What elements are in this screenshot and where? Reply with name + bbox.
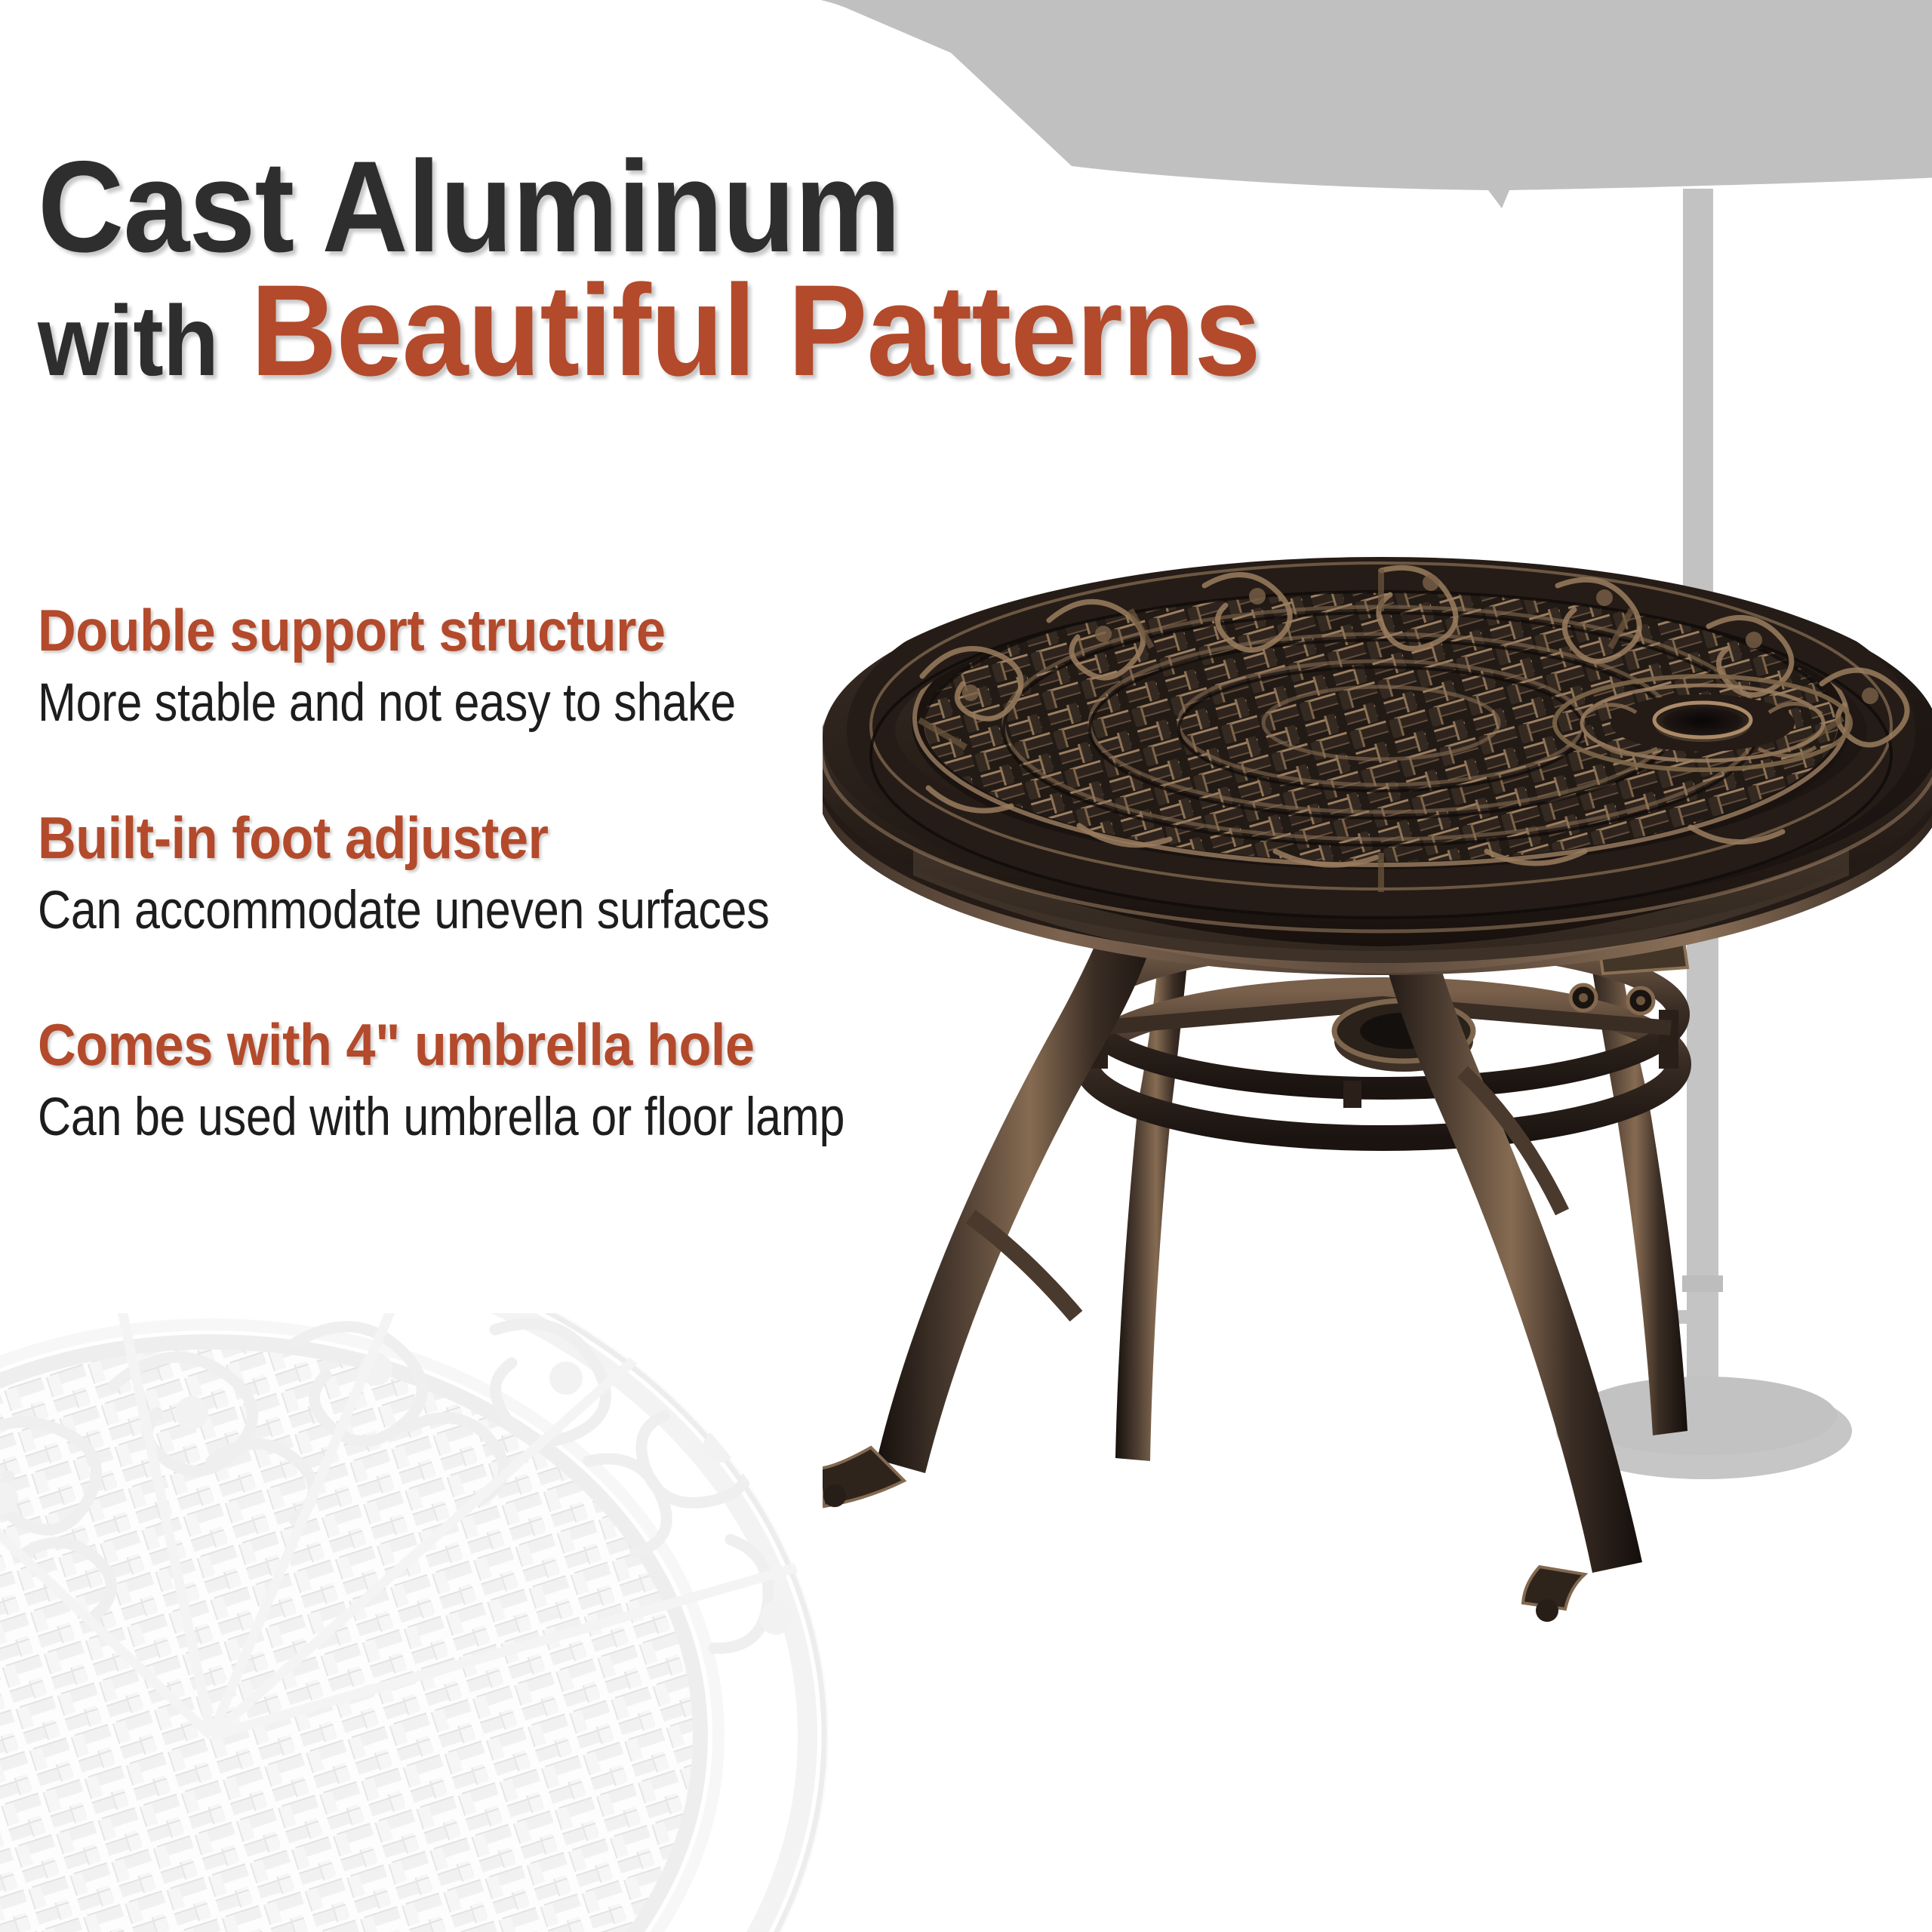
feature-title: Comes with 4" umbrella hole [38,1014,941,1075]
headline-line-2-emphasis: Beautiful Patterns [251,258,1260,403]
feature-item-umbrella-hole: Comes with 4" umbrella hole Can be used … [38,1014,1041,1150]
headline-line-1: Cast Aluminum [38,147,1392,268]
feature-subtitle: More stable and not easy to shake [38,671,901,735]
headline-block: Cast Aluminum with Beautiful Patterns [38,147,1509,392]
headline-line-2-prefix: with [38,285,218,396]
feature-subtitle: Can be used with umbrella or floor lamp [38,1085,901,1149]
product-feature-poster: Cast Aluminum with Beautiful Patterns Do… [0,0,1932,1932]
feature-list: Double support structure More stable and… [38,600,1041,1150]
feature-title: Built-in foot adjuster [38,808,941,868]
feature-item-double-support: Double support structure More stable and… [38,600,1041,736]
feature-title: Double support structure [38,600,941,660]
ghost-tabletop-pattern-watermark [0,1313,830,1932]
feature-item-foot-adjuster: Built-in foot adjuster Can accommodate u… [38,808,1041,943]
feature-subtitle: Can accommodate uneven surfaces [38,878,901,943]
headline-line-2: with Beautiful Patterns [38,271,1392,392]
